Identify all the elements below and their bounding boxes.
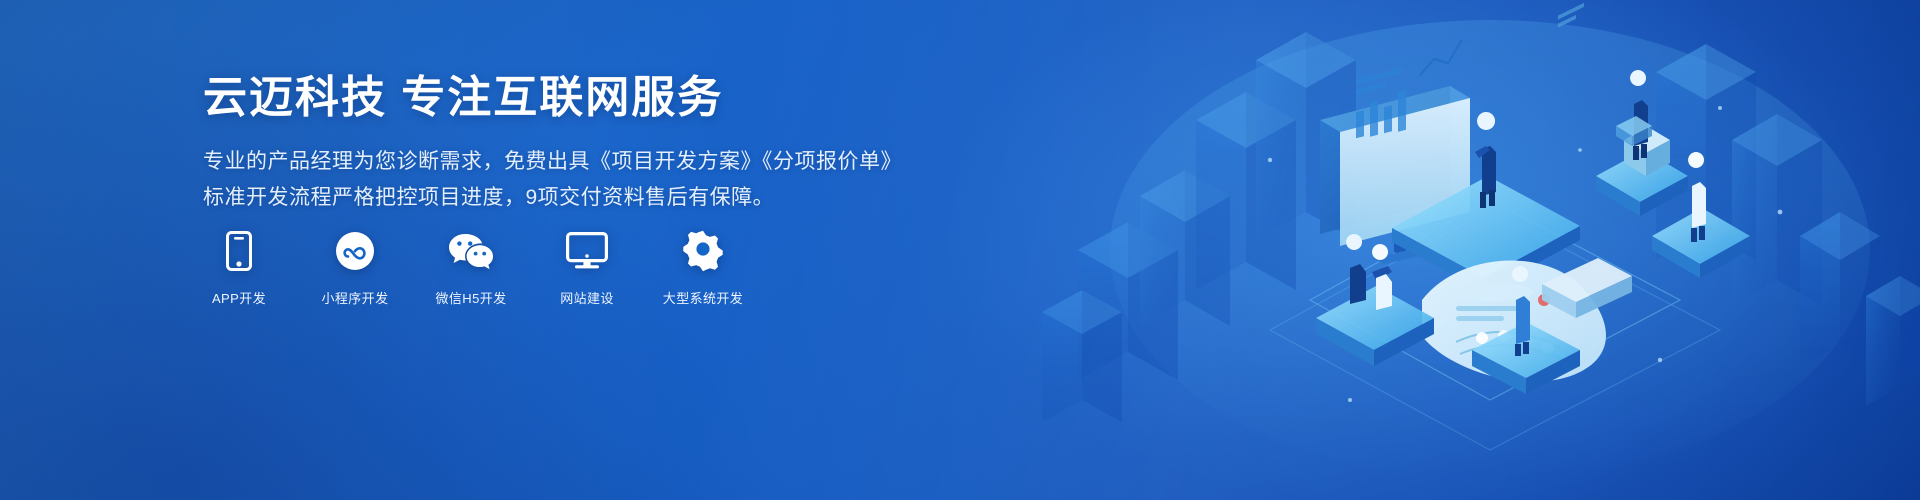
hero-copy: 云迈科技 专注互联网服务 专业的产品经理为您诊断需求，免费出具《项目开发方案》《… — [203, 72, 903, 216]
service-label: 网站建设 — [560, 288, 614, 307]
service-label: 微信H5开发 — [435, 288, 506, 307]
service-list: APP开发 小程序开发 微信 — [203, 228, 739, 307]
service-item-miniprogram[interactable]: 小程序开发 — [319, 228, 391, 307]
service-label: 大型系统开发 — [663, 288, 743, 307]
service-item-large-system[interactable]: 大型系统开发 — [667, 228, 739, 307]
service-label: 小程序开发 — [321, 288, 388, 307]
hero-subtitle-line-1: 专业的产品经理为您诊断需求，免费出具《项目开发方案》《分项报价单》 — [203, 144, 903, 180]
monitor-icon — [551, 228, 623, 274]
service-label: APP开发 — [212, 288, 266, 307]
hero-subtitle-line-2: 标准开发流程严格把控项目进度，9项交付资料售后有保障。 — [203, 180, 903, 216]
mini-program-icon — [319, 228, 391, 274]
service-item-website[interactable]: 网站建设 — [551, 228, 623, 307]
gear-icon — [667, 228, 739, 274]
illustration-isometric-scene — [1020, 0, 1920, 500]
mobile-phone-icon — [203, 228, 275, 274]
hero-banner: 云迈科技 专注互联网服务 专业的产品经理为您诊断需求，免费出具《项目开发方案》《… — [0, 0, 1920, 500]
service-item-wechat-h5[interactable]: 微信H5开发 — [435, 228, 507, 307]
wechat-icon — [435, 228, 507, 274]
page-title: 云迈科技 专注互联网服务 — [203, 72, 903, 124]
service-item-app[interactable]: APP开发 — [203, 228, 275, 307]
